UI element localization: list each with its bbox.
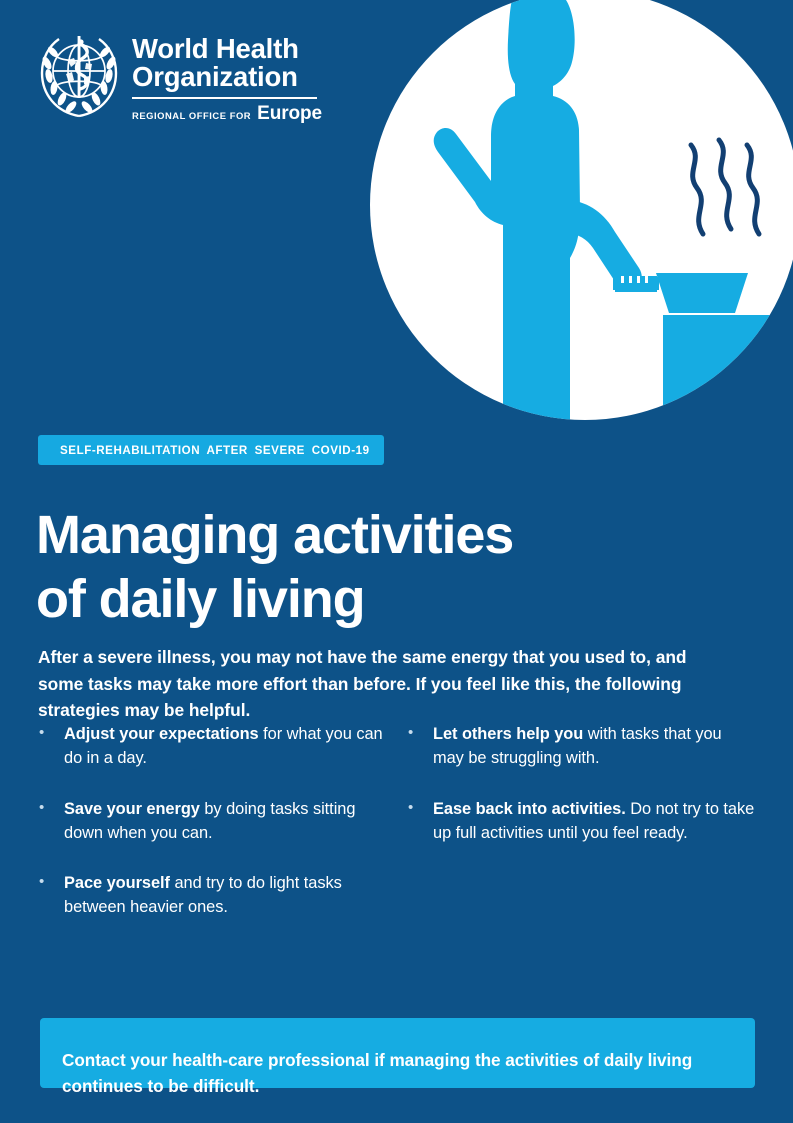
logo-divider [132, 97, 317, 99]
bullet-marker-icon: • [34, 722, 64, 771]
who-emblem [36, 30, 122, 122]
intro-paragraph: After a severe illness, you may not have… [38, 644, 710, 723]
counter-shape [663, 315, 793, 432]
series-badge: SELF-REHABILITATION AFTER SEVERE COVID-1… [38, 435, 384, 465]
poster-root: World Health Organization REGIONAL OFFIC… [0, 0, 793, 1123]
pan-shape [656, 273, 748, 313]
who-name-line2: Organization [132, 63, 322, 91]
strategy-column-left: • Adjust your expectations for what you … [34, 722, 395, 946]
page-title: Managing activities of daily living [36, 503, 676, 632]
list-item: • Let others help you with tasks that yo… [403, 722, 756, 771]
strategy-columns: • Adjust your expectations for what you … [34, 722, 756, 946]
series-badge-text: SELF-REHABILITATION AFTER SEVERE COVID-1… [60, 444, 370, 457]
who-wordmark: World Health Organization REGIONAL OFFIC… [132, 30, 322, 125]
region-name: Europe [257, 103, 322, 125]
strategy-column-right: • Let others help you with tasks that yo… [395, 722, 756, 946]
bullet-marker-icon: • [34, 797, 64, 846]
person-cooking-illustration [363, 0, 793, 432]
who-name-line1: World Health [132, 35, 322, 63]
footer-callout: Contact your health-care professional if… [40, 1018, 755, 1088]
list-item-text: Save your energy by doing tasks sitting … [64, 797, 395, 846]
list-item-text: Adjust your expectations for what you ca… [64, 722, 395, 771]
list-item: • Ease back into activities. Do not try … [403, 797, 756, 846]
list-item-lead: Let others help you [433, 725, 583, 743]
page-title-line1: Managing activities [36, 505, 513, 565]
list-item-lead: Ease back into activities. [433, 800, 626, 818]
list-item: • Pace yourself and try to do light task… [34, 871, 395, 920]
list-item-text: Let others help you with tasks that you … [433, 722, 756, 771]
bullet-marker-icon: • [403, 722, 433, 771]
regional-office-label: REGIONAL OFFICE FOR [132, 110, 251, 121]
list-item-text: Ease back into activities. Do not try to… [433, 797, 756, 846]
list-item-lead: Adjust your expectations [64, 725, 259, 743]
page-title-line2: of daily living [36, 569, 365, 629]
bullet-marker-icon: • [403, 797, 433, 846]
bullet-marker-icon: • [34, 871, 64, 920]
list-item-lead: Save your energy [64, 800, 200, 818]
list-item-lead: Pace yourself [64, 874, 170, 892]
list-item: • Adjust your expectations for what you … [34, 722, 395, 771]
list-item-text: Pace yourself and try to do light tasks … [64, 871, 395, 920]
list-item: • Save your energy by doing tasks sittin… [34, 797, 395, 846]
footer-callout-text: Contact your health-care professional if… [62, 1048, 735, 1099]
who-logo: World Health Organization REGIONAL OFFIC… [36, 30, 322, 125]
